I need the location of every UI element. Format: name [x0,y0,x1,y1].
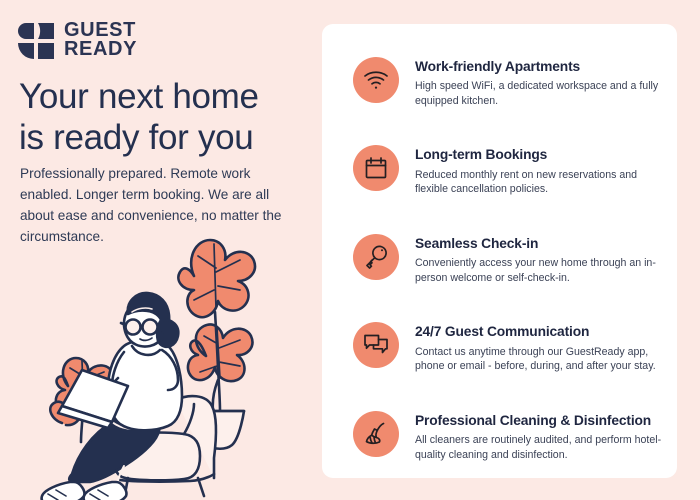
feature-description: Conveniently access your new home throug… [415,256,663,285]
features-list: Work-friendly Apartments High speed WiFi… [353,56,663,462]
feature-description: Contact us anytime through our GuestRead… [415,345,663,374]
list-item[interactable]: Seamless Check-in Conveniently access yo… [353,233,663,285]
feature-title: Professional Cleaning & Disinfection [415,412,663,429]
broom-icon [353,411,399,457]
feature-description: Reduced monthly rent on new reservations… [415,168,663,197]
hero-illustration [28,228,313,500]
wifi-icon [353,57,399,103]
promo-page: GUEST READY Your next home is ready for … [0,0,700,500]
feature-text: Long-term Bookings Reduced monthly rent … [415,144,663,196]
list-item[interactable]: 24/7 Guest Communication Contact us anyt… [353,321,663,373]
feature-title: Long-term Bookings [415,146,663,163]
hero-column: GUEST READY Your next home is ready for … [0,0,320,500]
list-item[interactable]: Professional Cleaning & Disinfection All… [353,410,663,462]
woman-working-laptop-illustration [28,228,313,500]
brand-name-line2: READY [64,40,137,59]
brand-logo[interactable]: GUEST READY [17,21,137,60]
chat-bubbles-icon [353,322,399,368]
list-item[interactable]: Long-term Bookings Reduced monthly rent … [353,144,663,196]
feature-text: Seamless Check-in Conveniently access yo… [415,233,663,285]
feature-description: High speed WiFi, a dedicated workspace a… [415,79,663,108]
feature-text: Work-friendly Apartments High speed WiFi… [415,56,663,108]
feature-title: 24/7 Guest Communication [415,323,663,340]
feature-text: 24/7 Guest Communication Contact us anyt… [415,321,663,373]
list-item[interactable]: Work-friendly Apartments High speed WiFi… [353,56,663,108]
features-panel: Work-friendly Apartments High speed WiFi… [322,24,677,478]
brand-wordmark: GUEST READY [64,21,137,60]
calendar-icon [353,145,399,191]
feature-title: Seamless Check-in [415,235,663,252]
guestready-quadrant-logo-icon [17,22,55,59]
feature-description: All cleaners are routinely audited, and … [415,433,663,462]
page-title: Your next home is ready for you [19,76,309,159]
feature-title: Work-friendly Apartments [415,58,663,75]
feature-text: Professional Cleaning & Disinfection All… [415,410,663,462]
key-icon [353,234,399,280]
